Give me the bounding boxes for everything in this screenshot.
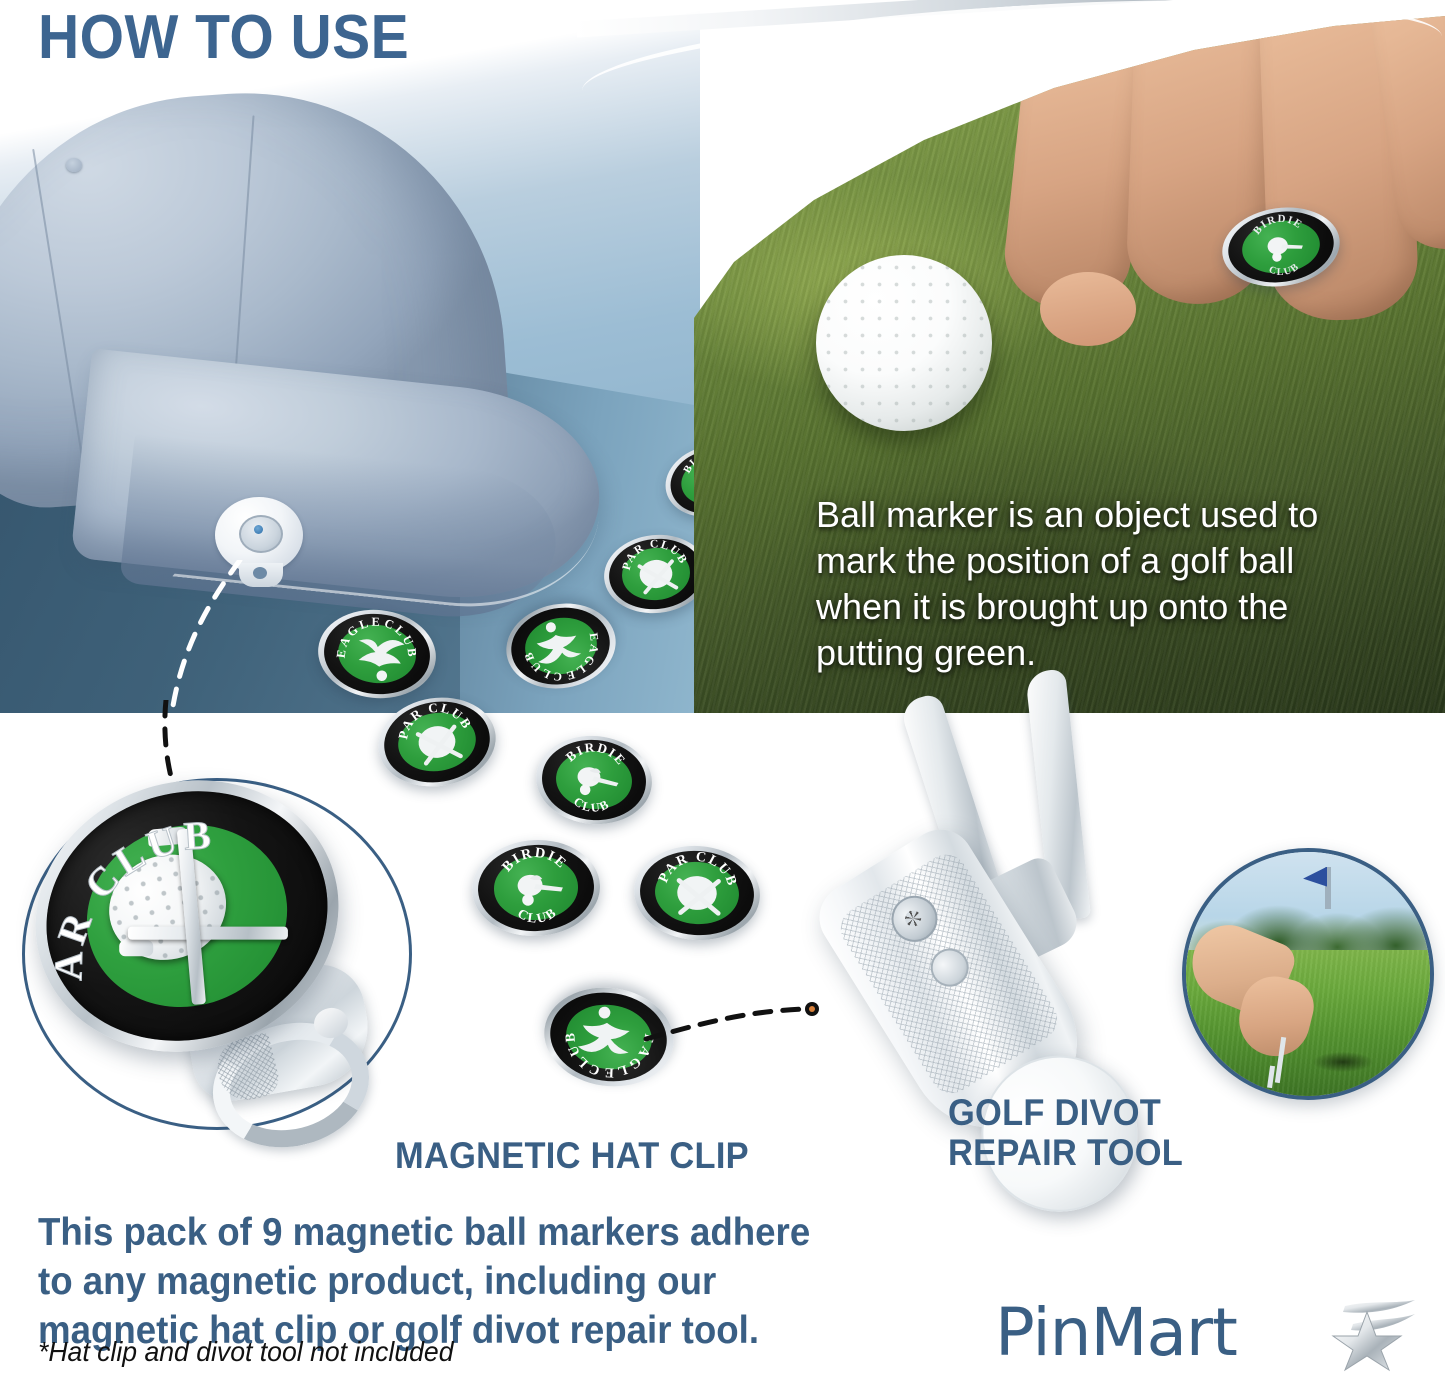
divot-label-line-1: GOLF DIVOT [948,1093,1183,1133]
hat-clip-magnet-dot [254,525,263,534]
infographic-canvas: BIRDIE CLUB PAR CLUB [0,0,1445,1388]
svg-text:CLUB: CLUB [514,904,560,928]
svg-text:CLUB: CLUB [570,794,613,817]
golf-divot-repair-tool-label: GOLF DIVOT REPAIR TOOL [948,1093,1183,1173]
brand-logo: PinMart [995,1294,1415,1376]
svg-text:CLUB: CLUB [1266,260,1303,280]
baseball-cap [0,95,640,565]
marker-par-art: PAR CLUB [600,530,700,618]
marker-birdie-art: BIRDIE CLUB [1217,200,1345,294]
hat-clip-icon [215,497,303,589]
marker-eagle-art: EAGLE CLUB [314,604,441,704]
marker-par-art: PAR CLUB [372,689,502,794]
svg-text:BIRDIE: BIRDIE [562,737,631,770]
hat-clip-ring [239,515,283,553]
list-item: PAR CLUB [600,530,700,618]
photo-caption: Ball marker is an object used to mark th… [816,492,1376,676]
brand-name: PinMart [995,1294,1237,1371]
hand-repairing-divot-photo [1182,848,1434,1100]
hat-clip-notch [253,567,267,579]
photo-clip-region: BIRDIE CLUB Ball marker is an object use… [694,0,1445,713]
golf-ball [816,255,992,431]
svg-text:BIRDIE: BIRDIE [498,843,571,876]
golf-flag-icon [1325,867,1331,909]
body-copy: This pack of 9 magnetic ball markers adh… [38,1208,828,1355]
marker-birdie-art: BIRDIE CLUB [470,837,603,940]
fingertip [1040,272,1136,346]
magnetic-hat-clip: PAR CLUB [20,782,380,1132]
footnote: *Hat clip and divot tool not included [38,1336,454,1368]
divot-label-line-2: REPAIR TOOL [948,1133,1183,1173]
svg-text:BIRDIE: BIRDIE [1249,209,1306,238]
list-item: BIRDIE CLUB [532,731,655,829]
cap-button [66,158,82,172]
list-item: BIRDIE CLUB [1217,200,1345,294]
hat-with-clip-photo: BIRDIE CLUB PAR CLUB [0,0,700,713]
inset-hand [1191,930,1328,1067]
shooting-star-icon [1325,1298,1417,1372]
list-item: EAGLE CLUB [314,604,441,704]
golf-ball-dimples [816,255,992,431]
list-item: BIRDIE CLUB [470,837,603,940]
list-item: PAR CLUB [372,689,502,794]
golf-ball-marker-photo: BIRDIE CLUB Ball marker is an object use… [694,0,1445,713]
magnetic-hat-clip-label: MAGNETIC HAT CLIP [395,1135,749,1177]
marker-birdie-art: BIRDIE CLUB [532,731,655,829]
hand-placing-marker: BIRDIE CLUB [994,0,1445,410]
page-title: HOW TO USE [38,2,409,73]
